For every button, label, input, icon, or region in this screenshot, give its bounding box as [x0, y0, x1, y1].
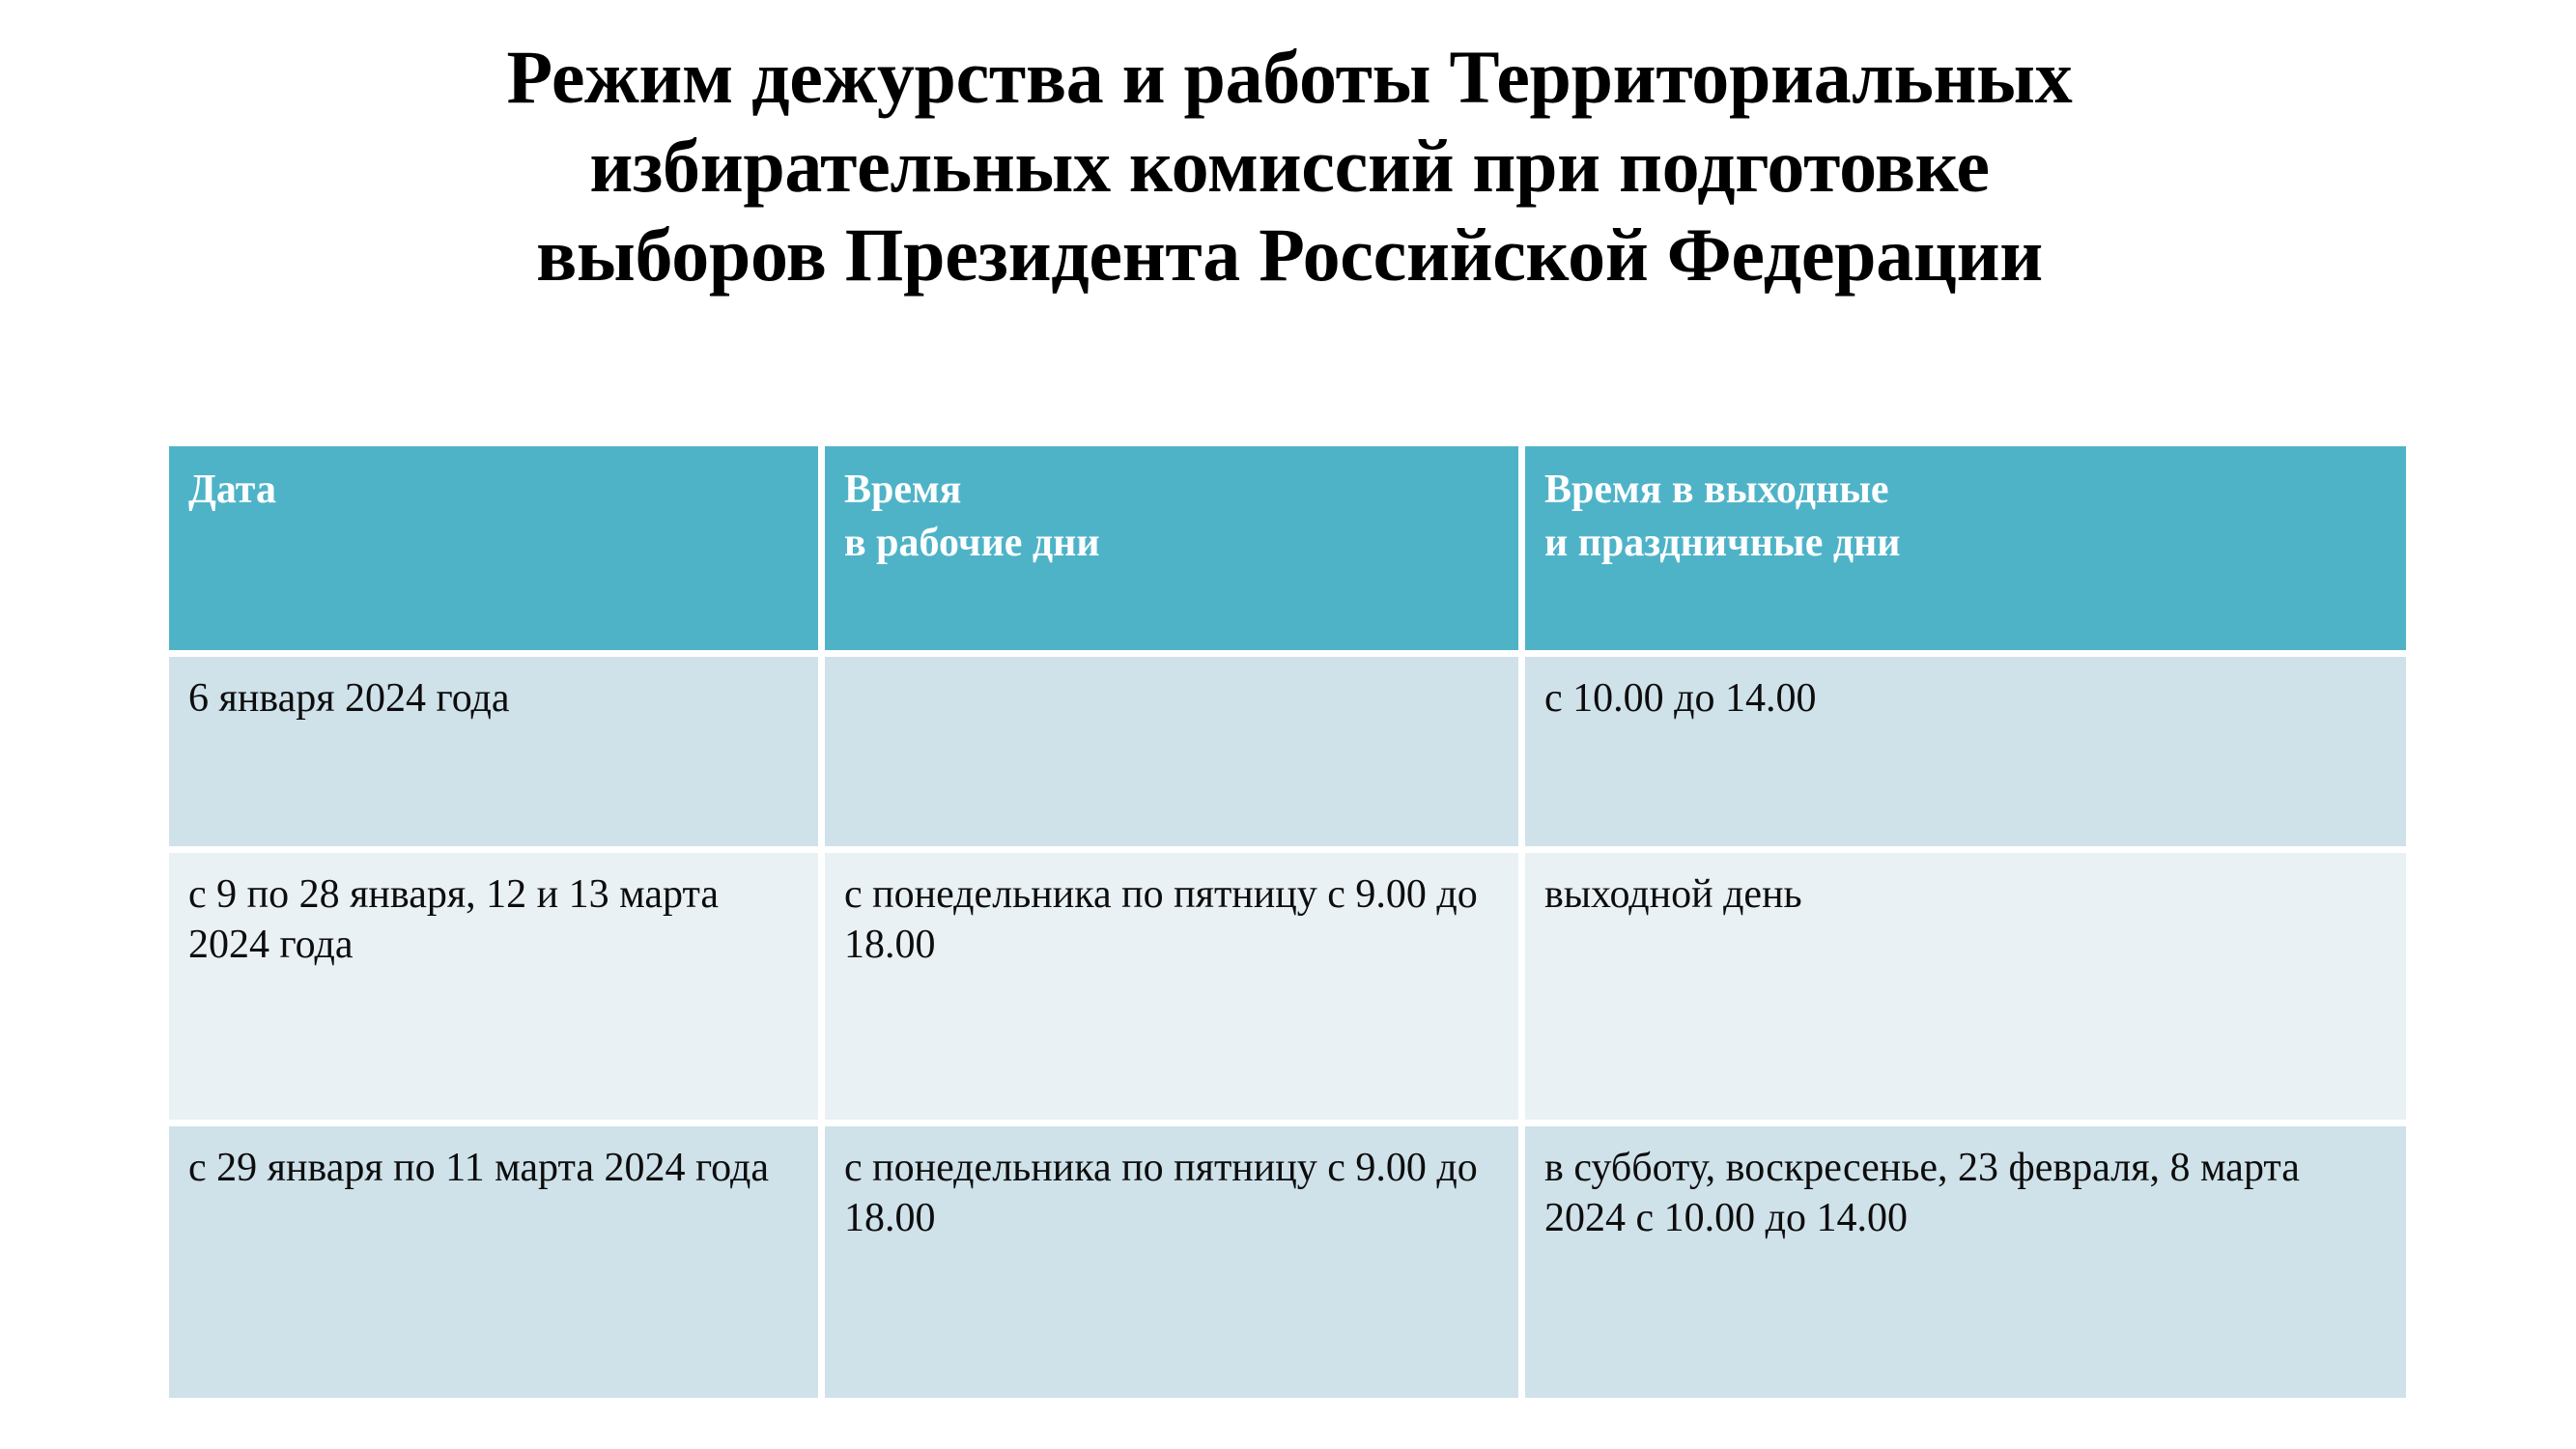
cell-date: с 9 по 28 января, 12 и 13 марта 2024 год…: [169, 853, 818, 1120]
cell-date: с 29 января по 11 марта 2024 года: [169, 1126, 818, 1398]
table-header: Дата Время в рабочие дни Время в выходны…: [169, 446, 2406, 650]
cell-weekday-time: с понедельника по пятницу с 9.00 до 18.0…: [825, 1126, 1518, 1398]
table-body: 6 января 2024 года с 10.00 до 14.00 с 9 …: [169, 657, 2406, 1398]
table-header-row: Дата Время в рабочие дни Время в выходны…: [169, 446, 2406, 650]
column-header-weekday-time: Время в рабочие дни: [825, 446, 1518, 650]
cell-weekend-time-text: в субботу, воскресенье, 23 февраля, 8 ма…: [1544, 1144, 2389, 1243]
page-title: Режим дежурства и работы Территориальных…: [174, 33, 2405, 299]
cell-weekend-time: с 10.00 до 14.00: [1525, 657, 2406, 846]
cell-weekday-time: с понедельника по пятницу с 9.00 до 18.0…: [825, 853, 1518, 1120]
table-row: с 9 по 28 января, 12 и 13 марта 2024 год…: [169, 853, 2406, 1120]
cell-weekend-time-text: выходной день: [1544, 870, 2389, 921]
cell-weekday-time: [825, 657, 1518, 846]
cell-date-text: 6 января 2024 года: [188, 674, 801, 724]
cell-weekend-time-text: с 10.00 до 14.00: [1544, 674, 2389, 724]
cell-date: 6 января 2024 года: [169, 657, 818, 846]
column-header-weekend-time: Время в выходные и праздничные дни: [1525, 446, 2406, 650]
table-row: 6 января 2024 года с 10.00 до 14.00: [169, 657, 2406, 846]
cell-date-text: с 9 по 28 января, 12 и 13 марта 2024 год…: [188, 870, 801, 970]
slide-canvas: Режим дежурства и работы Территориальных…: [0, 0, 2576, 1449]
cell-date-text: с 29 января по 11 марта 2024 года: [188, 1144, 801, 1194]
cell-weekday-time-text: с понедельника по пятницу с 9.00 до 18.0…: [844, 1144, 1501, 1243]
schedule-table: Дата Время в рабочие дни Время в выходны…: [162, 440, 2413, 1405]
column-header-date: Дата: [169, 446, 818, 650]
cell-weekend-time: выходной день: [1525, 853, 2406, 1120]
table-row: с 29 января по 11 марта 2024 года с поне…: [169, 1126, 2406, 1398]
schedule-table-container: Дата Время в рабочие дни Время в выходны…: [169, 446, 2406, 1398]
cell-weekend-time: в субботу, воскресенье, 23 февраля, 8 ма…: [1525, 1126, 2406, 1398]
cell-weekday-time-text: с понедельника по пятницу с 9.00 до 18.0…: [844, 870, 1501, 970]
